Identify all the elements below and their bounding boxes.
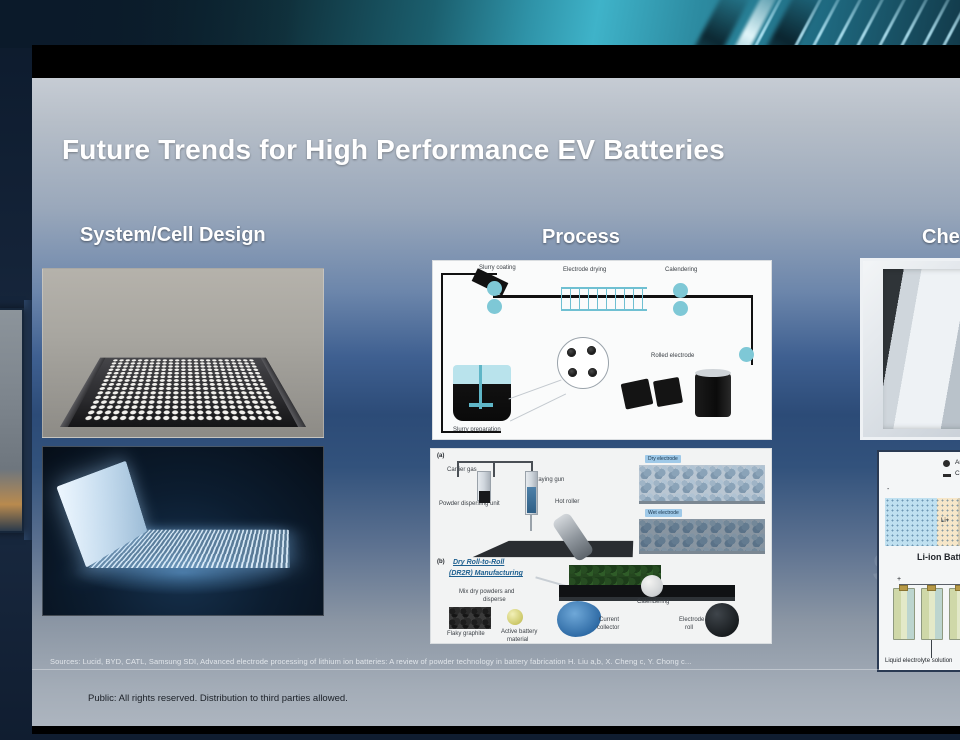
label-dr2r-line1: Dry Roll-to-Roll — [453, 559, 504, 567]
label-current-collector-line1: Current — [599, 617, 619, 624]
legend-cathode: Cathode — [955, 470, 960, 477]
label-panel-a: (a) — [437, 453, 444, 460]
blade-cell-pack-render — [42, 446, 324, 616]
sources-citation: Sources: Lucid, BYD, CATL, Samsung SDI, … — [50, 657, 691, 666]
screen-top-bar — [32, 45, 960, 78]
label-li-ion: Li+ — [941, 518, 949, 525]
label-electrode-drying: Electrode drying — [563, 267, 606, 274]
footer-divider — [32, 669, 960, 670]
adjacent-display-panel — [0, 308, 24, 533]
terminal-minus: - — [887, 486, 889, 494]
label-powder-dispersing-unit: Powder dispersing unit — [439, 501, 500, 508]
label-flaky-graphite: Flaky graphite — [447, 631, 485, 638]
label-electrode-roll-line2: roll — [685, 625, 693, 632]
confidentiality-note: Public: All rights reserved. Distributio… — [88, 693, 348, 704]
li-ion-battery-diagram: Anode Cathode - + Li+ Li-ion Battery + +… — [877, 450, 960, 672]
column-heading-design: System/Cell Design — [80, 224, 266, 247]
label-rolled-electrode: Rolled electrode — [651, 353, 694, 360]
label-liquid-electrolyte: Liquid electrolyte solution — [885, 658, 952, 665]
column-heading-process: Process — [542, 226, 620, 249]
label-slurry-coating: Slurry coating — [479, 265, 516, 272]
presentation-slide: Future Trends for High Performance EV Ba… — [32, 78, 960, 726]
label-carrier-gas: Carrier gas — [447, 467, 477, 474]
screen-capture: Future Trends for High Performance EV Ba… — [0, 0, 960, 740]
label-calendering: Calendering — [665, 267, 697, 274]
separator-film-photo — [860, 258, 960, 440]
label-mix-line2: disperse — [483, 597, 506, 604]
battery-caption: Li-ion Battery — [917, 552, 960, 562]
dry-electrode-process-diagram: (a) Carrier gas Powder dispersing unit S… — [430, 448, 772, 644]
label-calendering-b: Calendering — [637, 599, 669, 606]
legend-anode: Anode — [955, 459, 960, 466]
electrode-process-diagram: Slurry coating Electrode drying Calender… — [432, 260, 772, 440]
label-dr2r-line2: (DR2R) Manufacturing — [449, 570, 523, 578]
tag-wet-electrode: Wet electrode — [645, 509, 682, 517]
label-panel-b: (b) — [437, 559, 445, 566]
column-heading-chemistry: Che — [922, 226, 960, 249]
light-streak-backdrop — [0, 0, 960, 48]
label-slurry-preparation: Slurry preparation — [453, 427, 501, 434]
label-current-collector-line2: collector — [597, 625, 619, 632]
label-mix-line1: Mix dry powders and — [459, 589, 514, 596]
label-active-material-line2: material — [507, 637, 528, 644]
tag-dry-electrode: Dry electrode — [645, 455, 681, 463]
page-title: Future Trends for High Performance EV Ba… — [62, 134, 725, 166]
label-hot-roller: Hot roller — [555, 499, 579, 506]
label-electrode-roll-line1: Electrode — [679, 617, 704, 624]
cylindrical-cell-pack-photo — [42, 268, 324, 438]
label-active-material-line1: Active battery — [501, 629, 537, 636]
